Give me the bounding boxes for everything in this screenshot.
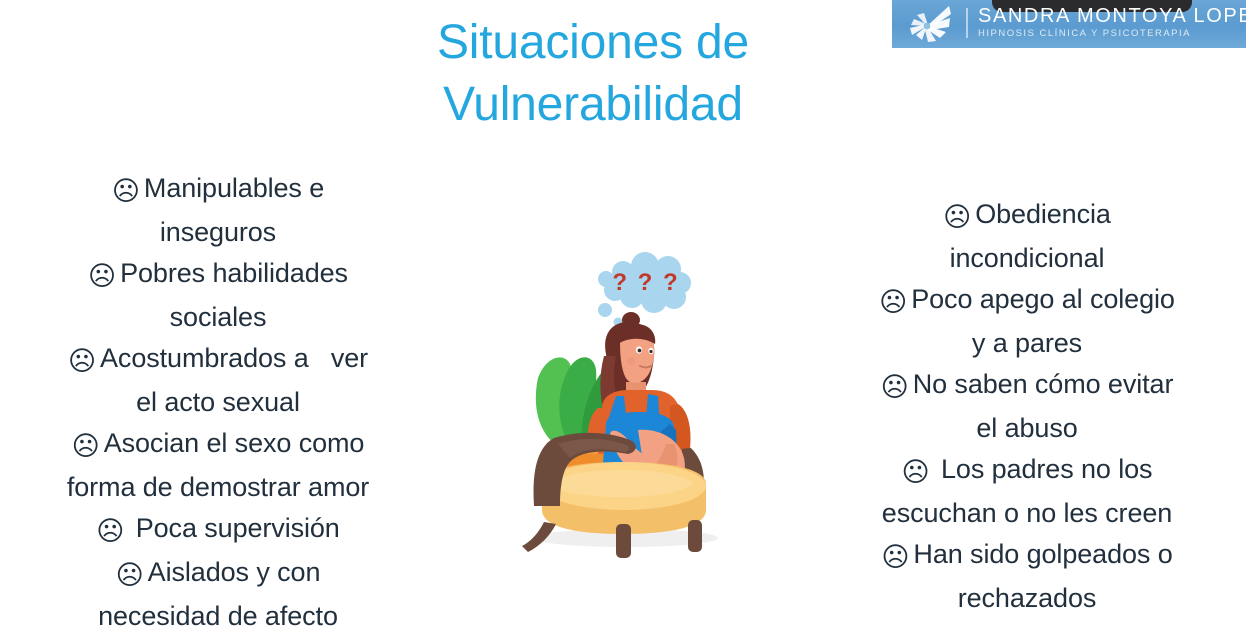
logo-tagline: HIPNOSIS CLÍNICA Y PSICOTERAPIA [978, 27, 1240, 40]
bullet-line: incondicional [820, 238, 1234, 279]
bullet-line: el abuso [820, 408, 1234, 449]
sad-face-icon: ☹ [881, 367, 909, 408]
logo-company-name: SANDRA MONTOYA LOPEZ [978, 5, 1240, 27]
sad-face-icon: ☹ [881, 537, 909, 578]
illustration-girl-in-armchair: ? ? ? [498, 238, 744, 558]
bullet-line: y a pares [820, 323, 1234, 364]
bullet-line: forma de demostrar amor [14, 467, 422, 508]
slide-title: Situaciones de Vulnerabilidad [313, 12, 873, 136]
bullet-line: ☹ Poca supervisión [14, 508, 422, 552]
bullet-line: necesidad de afecto [14, 596, 422, 629]
bullet-line: ☹Han sido golpeados o [820, 534, 1234, 578]
sad-face-icon: ☹ [68, 341, 96, 382]
bullet-line: ☹Poco apego al colegio [820, 279, 1234, 323]
bullet-line: ☹No saben cómo evitar [820, 364, 1234, 408]
sad-face-icon: ☹ [879, 282, 907, 323]
thought-bubble-icon: ? ? ? [598, 252, 691, 327]
sad-face-icon: ☹ [902, 452, 930, 493]
sad-face-icon: ☹ [116, 555, 144, 596]
bullet-line: ☹Acostumbrados a ver [14, 338, 422, 382]
bullet-line: escuchan o no les creen [820, 493, 1234, 534]
title-line-1: Situaciones de [313, 12, 873, 74]
bullet-line: el acto sexual [14, 382, 422, 423]
bullet-line: inseguros [14, 212, 422, 253]
sad-face-icon: ☹ [96, 511, 124, 552]
bullet-line: ☹ Los padres no los [820, 449, 1234, 493]
sad-face-icon: ☹ [72, 426, 100, 467]
logo-divider [966, 8, 968, 38]
bullet-line: sociales [14, 297, 422, 338]
bullet-line: ☹Obediencia [820, 194, 1234, 238]
bullet-line: ☹Pobres habilidades [14, 253, 422, 297]
slide-canvas: SANDRA MONTOYA LOPEZ HIPNOSIS CLÍNICA Y … [0, 0, 1246, 629]
sad-face-icon: ☹ [88, 256, 116, 297]
bullet-line: ☹Aislados y con [14, 552, 422, 596]
pinwheel-logo-icon [900, 4, 954, 46]
logo-banner: SANDRA MONTOYA LOPEZ HIPNOSIS CLÍNICA Y … [892, 0, 1246, 48]
bullet-list-right: ☹Obedienciaincondicional☹Poco apego al c… [820, 194, 1234, 619]
bullet-line: ☹Manipulables e [14, 168, 422, 212]
bullet-line: rechazados [820, 578, 1234, 619]
logo-text-group: SANDRA MONTOYA LOPEZ HIPNOSIS CLÍNICA Y … [978, 5, 1240, 40]
sad-face-icon: ☹ [112, 171, 140, 212]
svg-text:? ? ?: ? ? ? [612, 269, 679, 296]
title-line-2: Vulnerabilidad [313, 74, 873, 136]
bullet-list-left: ☹Manipulables einseguros☹Pobres habilida… [14, 168, 422, 629]
bullet-line: ☹Asocian el sexo como [14, 423, 422, 467]
sad-face-icon: ☹ [943, 197, 971, 238]
